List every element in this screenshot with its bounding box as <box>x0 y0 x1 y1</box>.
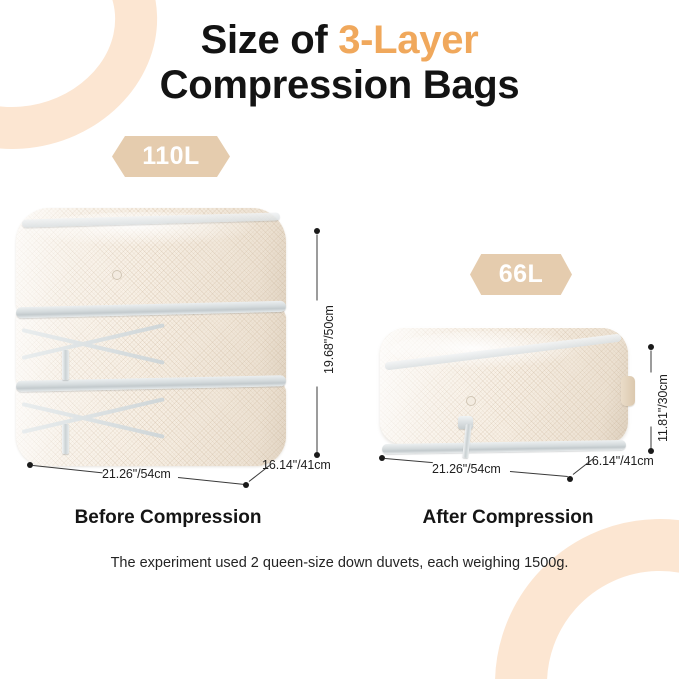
dim-label-right-width: 21.26"/54cm <box>432 462 501 476</box>
dim-label-left-depth: 16.14"/41cm <box>262 458 331 472</box>
dim-line-left-height-lower <box>317 387 318 453</box>
compressed-bag-body <box>380 328 628 444</box>
zipper-pull-tier-2 <box>62 350 69 380</box>
dim-line-right-width-b <box>510 471 568 477</box>
zipper-chevron-tier-2 <box>22 326 164 372</box>
dim-line-right-height-lower <box>651 427 652 449</box>
dim-line-left-width-a <box>33 465 103 473</box>
dim-label-left-height: 19.68"/50cm <box>322 305 336 374</box>
carry-handle-tab <box>621 376 635 406</box>
bag-image-after-compression <box>380 328 628 458</box>
air-valve-grommet <box>466 396 476 406</box>
dim-label-right-height: 11.81"/30cm <box>656 374 670 442</box>
decorative-arc-bottom-right <box>449 473 679 679</box>
caption-before-compression: Before Compression <box>0 507 336 529</box>
volume-badge-right: 66L <box>470 254 572 295</box>
dim-dot-right-width-end <box>567 476 573 482</box>
dim-label-left-width: 21.26"/54cm <box>102 467 171 481</box>
air-valve-grommet <box>112 270 122 280</box>
dim-dot-left-width-end <box>243 482 249 488</box>
caption-after-compression: After Compression <box>340 507 676 529</box>
dim-line-right-width-a <box>385 458 433 463</box>
dim-line-right-height-upper <box>651 351 652 373</box>
page-title: Size of 3-Layer Compression Bags <box>0 18 679 108</box>
zipper-pull-tier-3 <box>62 424 69 454</box>
volume-badge-left: 110L <box>112 136 230 177</box>
dim-line-left-height-upper <box>317 235 318 301</box>
title-accent: 3-Layer <box>338 18 478 62</box>
footnote-text: The experiment used 2 queen-size down du… <box>0 555 679 571</box>
title-line-1: Size of 3-Layer <box>0 18 679 63</box>
dim-dot-left-height-top <box>314 228 320 234</box>
bag-image-before-compression <box>16 208 286 466</box>
title-prefix: Size of <box>201 18 339 62</box>
dim-label-right-depth: 16.14"/41cm <box>585 454 654 468</box>
dim-dot-right-height-top <box>648 344 654 350</box>
dim-line-left-width-b <box>178 477 244 485</box>
infographic-canvas: Size of 3-Layer Compression Bags 110L 19… <box>0 0 679 679</box>
zipper-chevron-tier-3 <box>22 400 164 446</box>
title-line-2: Compression Bags <box>0 63 679 108</box>
